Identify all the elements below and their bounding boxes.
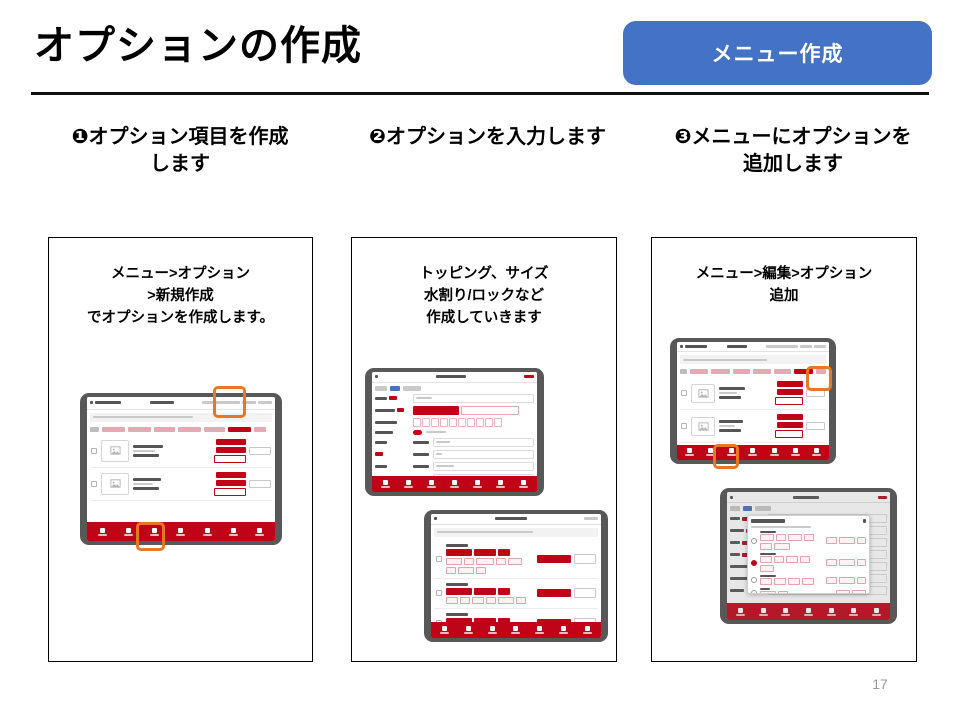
- bottom-nav-item-1[interactable]: [685, 448, 694, 456]
- table-row[interactable]: [90, 435, 272, 468]
- tablet-screen: [677, 342, 829, 460]
- home-icon: [383, 480, 388, 485]
- option-choice-row[interactable]: [751, 575, 867, 585]
- table-icon: [513, 626, 518, 631]
- notice-banner: [434, 528, 598, 537]
- bottom-nav-item-5[interactable]: [535, 626, 544, 634]
- copy-button[interactable]: [249, 447, 271, 455]
- list-item[interactable]: [434, 579, 598, 609]
- settings-icon: [521, 480, 526, 485]
- menu-create-badge-label: メニュー作成: [712, 38, 844, 68]
- category-tab-active[interactable]: [794, 369, 814, 374]
- value-tag: [508, 558, 522, 565]
- report-icon: [561, 626, 566, 631]
- row-checkbox[interactable]: [436, 556, 442, 562]
- card-2-caption-line3: 作成していきます: [358, 308, 610, 330]
- menu-setting-button[interactable]: [216, 439, 246, 445]
- menu-item-list: [87, 435, 275, 523]
- bottom-nav[interactable]: [372, 476, 537, 492]
- bottom-nav-item-4[interactable]: [748, 448, 757, 456]
- category-tab[interactable]: [102, 427, 125, 432]
- value-tag: [446, 597, 458, 604]
- step-heading-1-line1: ❶オプション項目を作成: [40, 124, 320, 151]
- row-actions[interactable]: [775, 381, 825, 405]
- settings-icon: [585, 626, 590, 631]
- bottom-nav-item-5[interactable]: [770, 448, 779, 456]
- settings-icon: [257, 528, 262, 533]
- form-row-required: [375, 430, 534, 435]
- bottom-nav-item-3[interactable]: [488, 626, 497, 634]
- bottom-nav[interactable]: [87, 522, 275, 541]
- slide: オプションの作成 メニュー作成 ❶オプション項目を作成 します ❷オプションを入…: [0, 0, 960, 720]
- report-icon: [231, 528, 236, 533]
- step-headings: ❶オプション項目を作成 します ❷オプションを入力します ❸メニューにオプション…: [0, 124, 960, 194]
- table-icon: [178, 528, 183, 533]
- tag: [498, 588, 510, 595]
- topbar-actions[interactable]: [766, 345, 826, 348]
- option-form: [372, 383, 537, 477]
- settings-icon: [814, 448, 819, 453]
- edit-button[interactable]: [537, 555, 571, 563]
- item-text: [719, 387, 771, 399]
- bottom-nav-item-7[interactable]: [519, 480, 528, 488]
- form-label: [375, 465, 409, 468]
- card-1-caption-line1: メニュー>オプション: [55, 264, 306, 286]
- report-icon: [498, 480, 503, 485]
- tablet-mock-option-list: [424, 510, 608, 642]
- topbar-back[interactable]: [375, 375, 378, 378]
- value-tag: [446, 558, 462, 565]
- value-tag: [476, 567, 486, 574]
- row-checkbox[interactable]: [91, 481, 97, 487]
- item-thumbnail: [691, 417, 715, 436]
- item-text: [133, 445, 210, 457]
- radio-button[interactable]: [751, 538, 757, 544]
- topbar-title: [727, 345, 747, 348]
- bottom-nav-item-5[interactable]: [473, 480, 482, 488]
- list-item[interactable]: [434, 540, 598, 579]
- list-item[interactable]: [434, 609, 598, 622]
- category-tabs[interactable]: [677, 367, 829, 377]
- table-icon: [452, 480, 457, 485]
- step-heading-1: ❶オプション項目を作成 します: [40, 124, 320, 178]
- bottom-nav-item-2[interactable]: [124, 528, 133, 536]
- order-icon: [126, 528, 131, 533]
- topbar-actions[interactable]: [202, 401, 272, 404]
- table-row[interactable]: [680, 410, 826, 443]
- copy-button[interactable]: [806, 422, 825, 430]
- category-tab[interactable]: [204, 427, 225, 432]
- tablet-screen: [727, 492, 890, 620]
- single-select-option[interactable]: [413, 406, 459, 415]
- option-name-input[interactable]: [413, 394, 534, 403]
- delete-button[interactable]: [214, 488, 246, 496]
- category-tab[interactable]: [178, 427, 201, 432]
- option-values: [446, 558, 533, 574]
- bottom-nav-item-2[interactable]: [404, 480, 413, 488]
- topbar-title: [436, 375, 466, 378]
- value-tag: [516, 597, 526, 604]
- bottom-nav-item-2[interactable]: [464, 626, 473, 634]
- bottom-nav-item-7[interactable]: [812, 448, 821, 456]
- bottom-nav-item-1[interactable]: [98, 528, 107, 536]
- edit-button[interactable]: [216, 480, 246, 486]
- option-meta-tags: [836, 590, 866, 595]
- bottom-nav-item-6[interactable]: [559, 626, 568, 634]
- value-tag: [476, 558, 494, 565]
- bottom-nav-item-3[interactable]: [427, 480, 436, 488]
- radio-button-selected[interactable]: [751, 560, 757, 566]
- form-tab[interactable]: [403, 386, 421, 391]
- category-tab[interactable]: [128, 427, 151, 432]
- page-title: オプションの作成: [34, 26, 362, 66]
- form-row-detail-1: [375, 438, 534, 447]
- form-label: [375, 408, 409, 412]
- card-2-caption: トッピング、サイズ 水割り/ロックなど 作成していきます: [358, 264, 610, 329]
- image-icon: [698, 388, 709, 399]
- row-checkbox[interactable]: [91, 448, 97, 454]
- value-tag: [486, 597, 496, 604]
- row-actions[interactable]: [537, 554, 596, 564]
- bottom-nav-item-2[interactable]: [706, 448, 715, 456]
- print-icon: [772, 448, 777, 453]
- card-3-caption-line2: 追加: [658, 286, 910, 308]
- option-list: [431, 540, 601, 622]
- menu-item-list: [677, 377, 829, 444]
- app-topbar: [677, 342, 829, 352]
- bottom-nav-item-6[interactable]: [791, 448, 800, 456]
- option-values: [446, 597, 533, 604]
- item-text: [719, 420, 771, 432]
- item-text: [133, 478, 210, 490]
- detail-input[interactable]: [433, 438, 534, 447]
- row-actions[interactable]: [537, 588, 596, 598]
- category-tab[interactable]: [680, 369, 687, 374]
- category-tab-active[interactable]: [228, 427, 251, 432]
- topbar-back[interactable]: [434, 517, 437, 520]
- card-1-caption: メニュー>オプション >新規作成 でオプションを作成します。: [55, 264, 306, 329]
- tag: [446, 549, 472, 556]
- close-icon[interactable]: [863, 519, 866, 523]
- step-card-3: メニュー>編集>オプション 追加: [651, 237, 917, 662]
- bottom-nav-item-1[interactable]: [440, 626, 449, 634]
- menu-create-badge[interactable]: メニュー作成: [623, 21, 932, 85]
- card-3-caption: メニュー>編集>オプション 追加: [658, 264, 910, 308]
- category-tab[interactable]: [816, 369, 826, 374]
- delete-button[interactable]: [775, 397, 803, 405]
- form-row-select-type: [375, 406, 534, 415]
- card-1-caption-line2: >新規作成: [55, 286, 306, 308]
- radio-button[interactable]: [751, 590, 757, 594]
- delete-button[interactable]: [574, 588, 596, 598]
- step-heading-2-line1: ❷オプションを入力します: [345, 124, 630, 151]
- copy-button[interactable]: [249, 480, 271, 488]
- topbar-back[interactable]: [90, 401, 121, 404]
- tag: [446, 588, 472, 595]
- menu-icon: [429, 480, 434, 485]
- tablet-screen: [431, 514, 601, 638]
- category-tab[interactable]: [753, 369, 772, 374]
- order-icon: [466, 626, 471, 631]
- home-icon: [687, 448, 692, 453]
- value-tag: [446, 567, 456, 574]
- app-topbar: [431, 514, 601, 525]
- bottom-nav-item-6[interactable]: [496, 480, 505, 488]
- category-tabs[interactable]: [87, 425, 275, 435]
- row-checkbox[interactable]: [681, 390, 687, 396]
- bottom-nav-item-5[interactable]: [203, 528, 212, 536]
- tablet-mock-option-modal: [720, 488, 897, 624]
- row-checkbox[interactable]: [681, 423, 687, 429]
- order-icon: [406, 480, 411, 485]
- option-choice-row[interactable]: [751, 553, 867, 572]
- form-tab[interactable]: [375, 386, 387, 391]
- category-tab[interactable]: [690, 369, 709, 374]
- item-thumbnail: [691, 384, 715, 403]
- bottom-nav-item-3[interactable]: [727, 448, 736, 456]
- menu-setting-button[interactable]: [777, 414, 803, 420]
- bottom-nav[interactable]: [431, 622, 601, 638]
- form-tab-active[interactable]: [390, 386, 400, 391]
- topbar-title: [495, 517, 527, 520]
- copy-button[interactable]: [806, 389, 825, 397]
- tablet-mock-menu-list: [80, 393, 282, 545]
- edit-button[interactable]: [537, 589, 571, 597]
- detail-input[interactable]: [433, 450, 534, 459]
- form-label: [375, 431, 409, 434]
- category-tab[interactable]: [154, 427, 175, 432]
- category-tab[interactable]: [254, 427, 266, 432]
- order-icon: [708, 448, 713, 453]
- card-1-caption-line3: でオプションを作成します。: [55, 308, 306, 330]
- delete-button[interactable]: [574, 554, 596, 564]
- option-tags: [446, 588, 533, 595]
- count-stepper[interactable]: [413, 418, 502, 427]
- table-icon: [750, 448, 755, 453]
- app-topbar: [87, 397, 275, 410]
- notice-banner: [680, 355, 826, 364]
- bottom-nav-item-4[interactable]: [450, 480, 459, 488]
- image-icon: [110, 445, 121, 456]
- form-label: [375, 396, 409, 400]
- step-heading-1-line2: します: [40, 151, 320, 178]
- edit-button[interactable]: [777, 422, 803, 428]
- step-card-2: トッピング、サイズ 水割り/ロックなど 作成していきます: [351, 237, 617, 662]
- image-icon: [110, 478, 121, 489]
- option-tags: [446, 549, 533, 556]
- bottom-nav-item-4[interactable]: [176, 528, 185, 536]
- option-meta-tags: [826, 559, 866, 566]
- option-choice-row[interactable]: [751, 588, 867, 594]
- value-tag: [458, 567, 474, 574]
- step-heading-3: ❸メニューにオプションを 追加します: [648, 124, 938, 178]
- option-meta-tags: [826, 577, 866, 584]
- form-row-detail-2: [375, 450, 534, 459]
- item-thumbnail: [101, 440, 129, 462]
- topbar-back[interactable]: [680, 345, 707, 348]
- card-2-caption-line1: トッピング、サイズ: [358, 264, 610, 286]
- tablet-mock-option-form: [365, 368, 544, 496]
- home-icon: [100, 528, 105, 533]
- page-number: 17: [860, 676, 900, 692]
- table-row[interactable]: [90, 468, 272, 501]
- multi-select-option[interactable]: [461, 406, 519, 415]
- bottom-nav-item-7[interactable]: [255, 528, 264, 536]
- required-toggle[interactable]: [413, 430, 422, 435]
- image-icon: [698, 421, 709, 432]
- form-tabs[interactable]: [375, 386, 534, 391]
- bottom-nav-item-3[interactable]: [150, 528, 159, 536]
- form-label: [375, 421, 409, 424]
- tag: [474, 549, 496, 556]
- card-3-caption-line1: メニュー>編集>オプション: [658, 264, 910, 286]
- tablet-screen: [372, 372, 537, 492]
- menu-icon: [729, 448, 734, 453]
- value-tag: [464, 558, 474, 565]
- edit-button[interactable]: [216, 447, 246, 453]
- bottom-nav-item-4[interactable]: [511, 626, 520, 634]
- tablet-screen: [87, 397, 275, 541]
- category-tab[interactable]: [733, 369, 750, 374]
- menu-icon: [152, 528, 157, 533]
- home-icon: [442, 626, 447, 631]
- value-tag: [496, 558, 506, 565]
- app-topbar: [372, 372, 537, 383]
- header-divider: [31, 92, 929, 95]
- delete-button[interactable]: [775, 430, 803, 438]
- option-choice-row[interactable]: [751, 531, 867, 550]
- topbar-action[interactable]: [584, 517, 598, 520]
- step-heading-3-line1: ❸メニューにオプションを: [648, 124, 938, 151]
- option-select-modal: [747, 515, 871, 594]
- modal-header: [751, 519, 867, 523]
- option-meta-tags: [826, 537, 866, 544]
- step-heading-3-line2: 追加します: [648, 151, 938, 178]
- tag: [474, 588, 496, 595]
- form-row-count: [375, 418, 534, 427]
- tag: [498, 549, 510, 556]
- topbar-title: [150, 401, 174, 404]
- form-label: [375, 452, 409, 456]
- form-row-name: [375, 394, 534, 403]
- row-actions[interactable]: [775, 414, 825, 438]
- bottom-nav-item-7[interactable]: [583, 626, 592, 634]
- report-icon: [793, 448, 798, 453]
- form-row-detail-3: [375, 462, 534, 471]
- menu-setting-button[interactable]: [777, 381, 803, 387]
- row-actions[interactable]: [214, 472, 271, 496]
- row-actions[interactable]: [214, 439, 271, 463]
- step-heading-2: ❷オプションを入力します: [345, 124, 630, 151]
- delete-button[interactable]: [214, 455, 246, 463]
- category-tab[interactable]: [90, 427, 99, 432]
- select-type-segmented[interactable]: [413, 406, 519, 415]
- radio-button[interactable]: [751, 577, 757, 583]
- print-icon: [537, 626, 542, 631]
- tablet-mock-menu-list-edit: [670, 338, 836, 464]
- table-row[interactable]: [680, 377, 826, 410]
- value-tag: [498, 597, 514, 604]
- step-card-1: メニュー>オプション >新規作成 でオプションを作成します。: [48, 237, 313, 662]
- menu-setting-button[interactable]: [216, 472, 246, 478]
- item-thumbnail: [101, 473, 129, 495]
- category-tab[interactable]: [774, 369, 791, 374]
- menu-icon: [490, 626, 495, 631]
- card-2-caption-line2: 水割り/ロックなど: [358, 286, 610, 308]
- topbar-save[interactable]: [524, 375, 534, 378]
- bottom-nav[interactable]: [677, 445, 829, 460]
- bottom-nav-item-1[interactable]: [381, 480, 390, 488]
- print-icon: [475, 480, 480, 485]
- category-tab[interactable]: [711, 369, 730, 374]
- edit-button[interactable]: [777, 389, 803, 395]
- value-tag: [460, 597, 470, 604]
- detail-input[interactable]: [433, 462, 534, 471]
- notice-banner: [90, 413, 272, 422]
- row-checkbox[interactable]: [436, 590, 442, 596]
- bottom-nav-item-6[interactable]: [229, 528, 238, 536]
- form-label: [375, 441, 409, 444]
- print-icon: [205, 528, 210, 533]
- value-tag: [472, 597, 484, 604]
